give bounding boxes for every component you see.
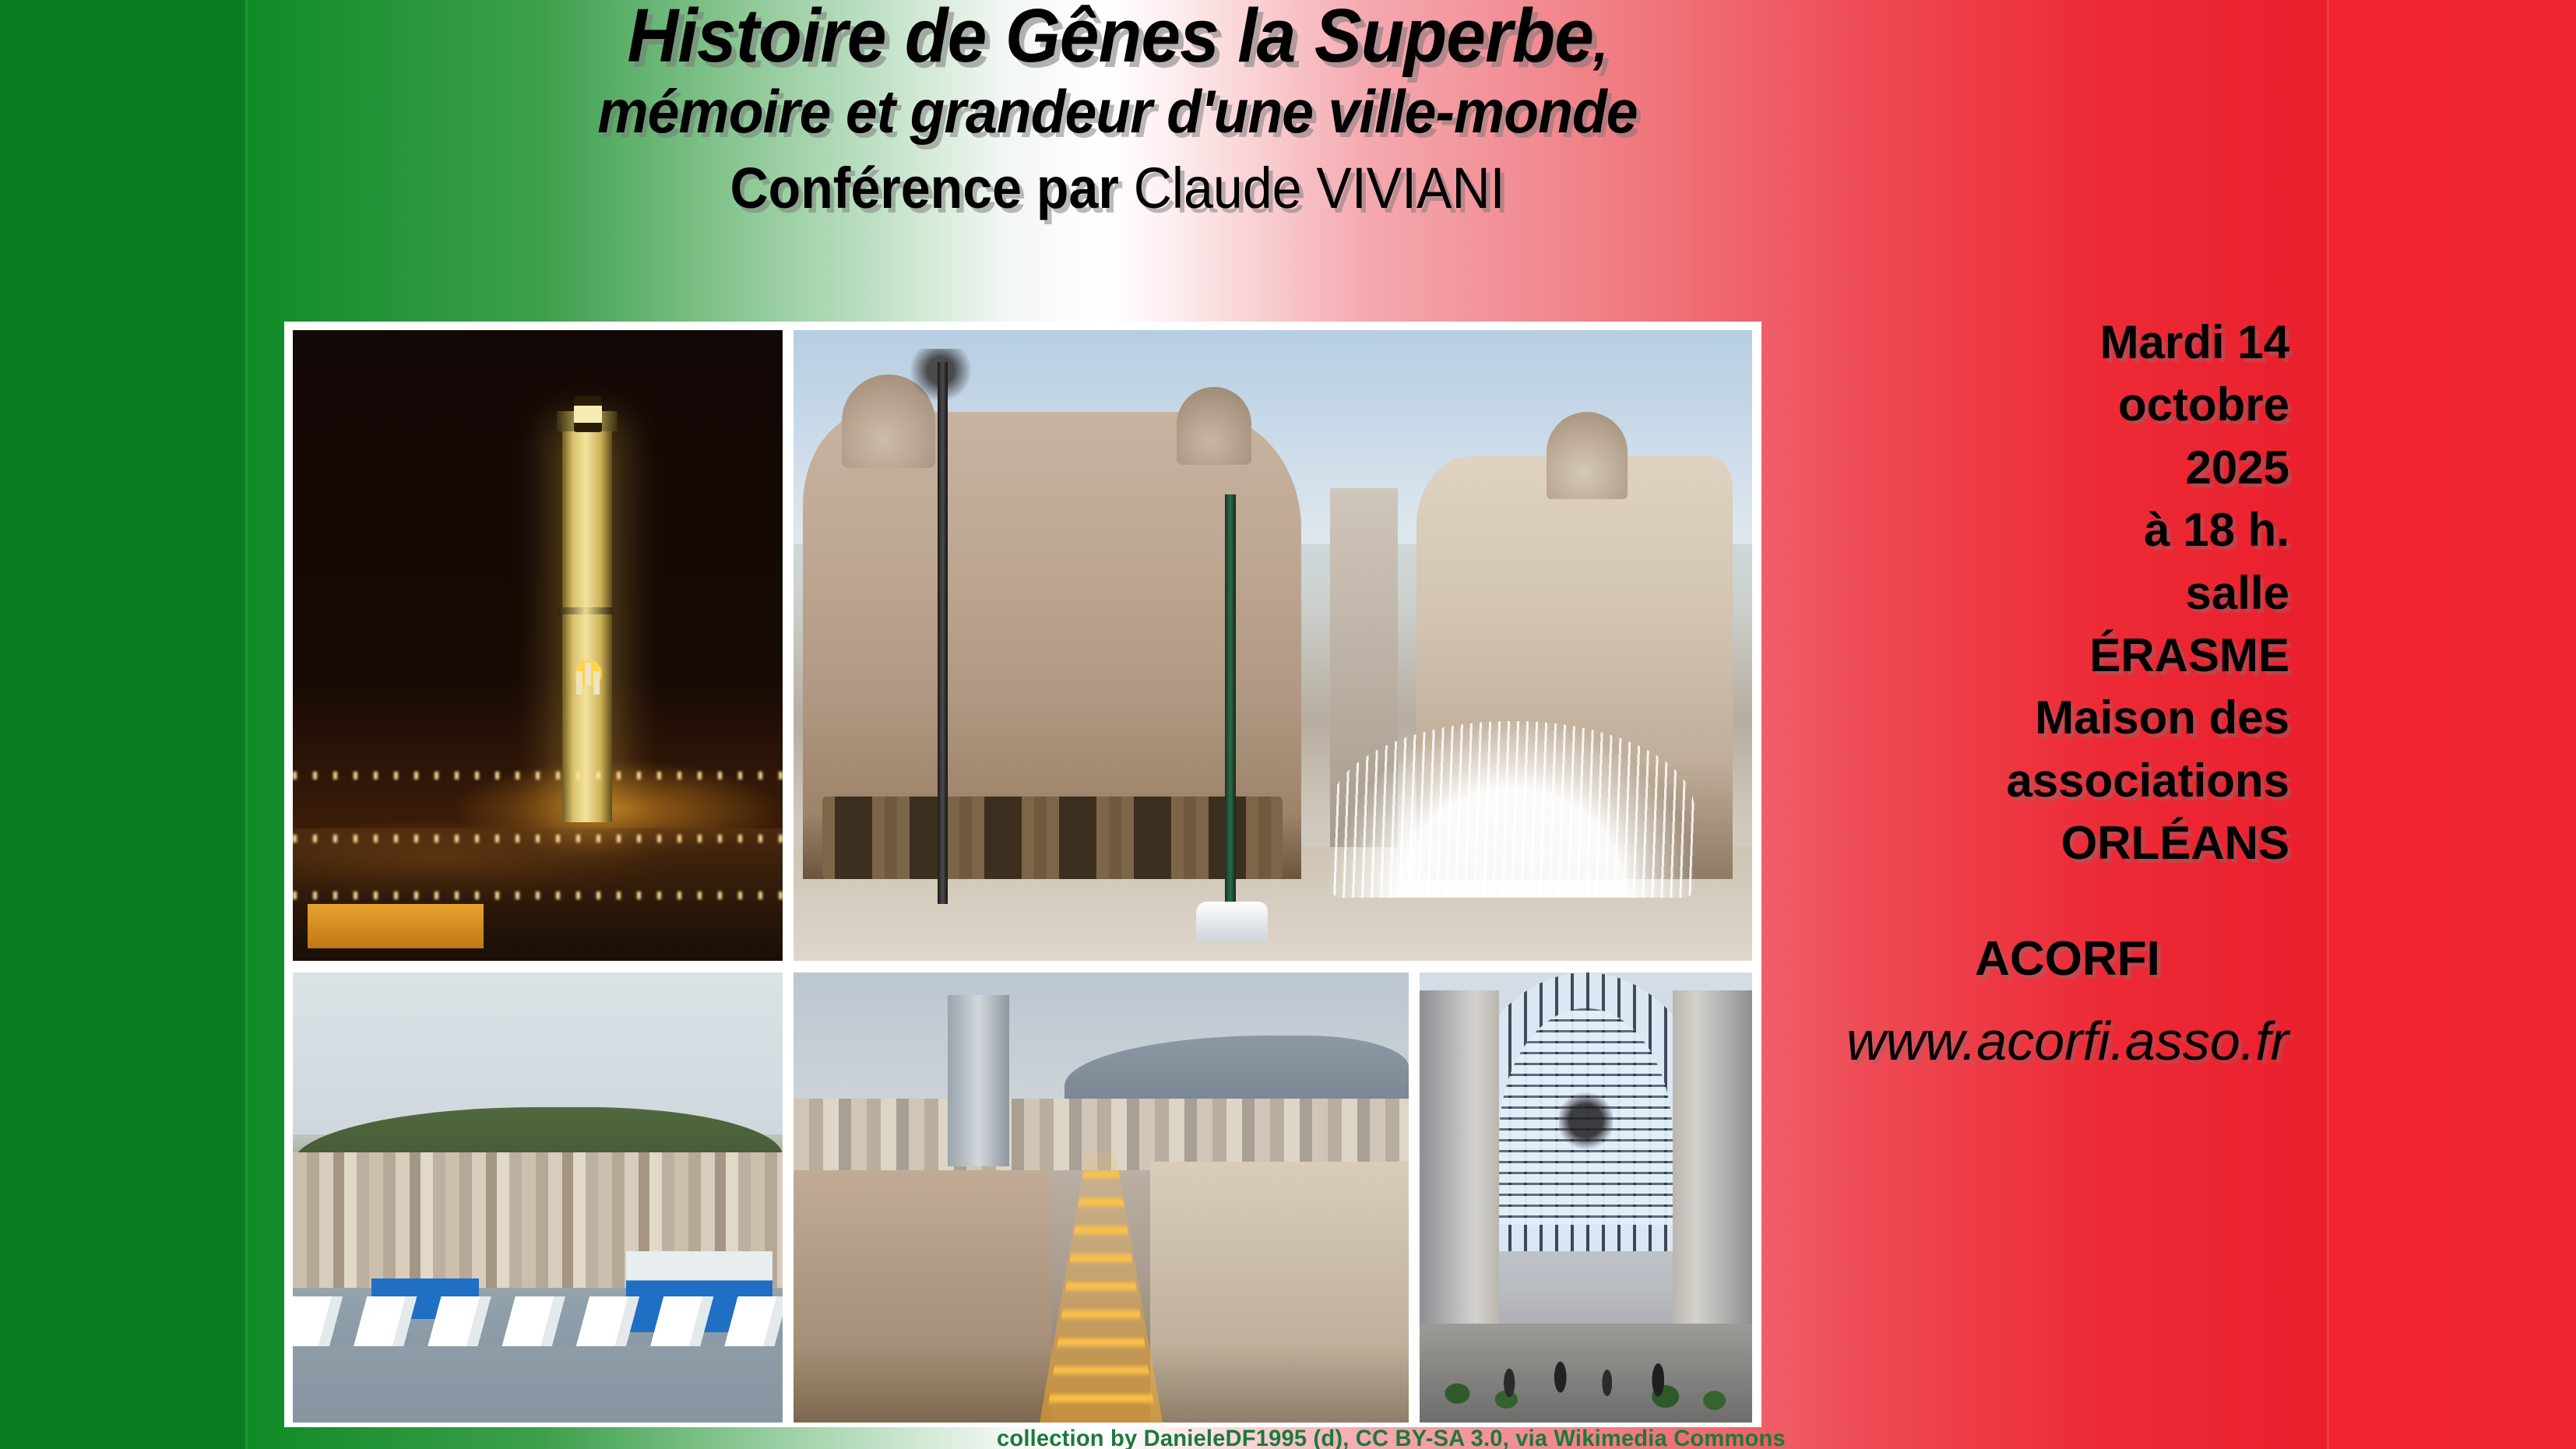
- piazza-dome-right: [1547, 412, 1628, 499]
- organisation-name: ACORFI: [1846, 931, 2289, 987]
- street-right-palazzi: [1150, 1162, 1409, 1423]
- lanterna-dock-light-row-3: [293, 892, 783, 899]
- event-line-room-name: ÉRASME: [1846, 624, 2289, 687]
- event-line-date-day: Mardi 14: [1846, 311, 2289, 374]
- harbour-moored-yachts: [293, 1296, 783, 1350]
- event-line-year: 2025: [1846, 437, 2289, 499]
- lanterna-coat-of-arms: [575, 658, 603, 692]
- conference-poster: Histoire de Gênes la Superbe, mémoire et…: [0, 0, 2576, 1449]
- left-panel-divider: [245, 0, 248, 1449]
- right-panel-divider: [2327, 0, 2329, 1449]
- event-details-block: Mardi 14 octobre 2025 à 18 h. salle ÉRAS…: [1846, 311, 2289, 1072]
- harbour-water: [293, 1346, 783, 1423]
- photo-piazza-de-ferrari: [794, 330, 1752, 961]
- event-line-time: à 18 h.: [1846, 499, 2289, 561]
- photo-lanterna-lighthouse-night: [293, 330, 783, 961]
- lanterna-dock-light-row-2: [293, 835, 783, 842]
- piazza-ornamental-lamppost: [938, 362, 948, 905]
- piazza-dome-centre: [1177, 387, 1251, 465]
- piazza-fountain: [1330, 721, 1694, 898]
- piazza-tram-pole: [1225, 494, 1236, 936]
- lanterna-cornice-band: [558, 607, 613, 614]
- galleria-chandelier: [1559, 1089, 1612, 1152]
- event-line-city: ORLÉANS: [1846, 812, 2289, 874]
- galleria-pedestrians: [1480, 1332, 1692, 1404]
- street-modern-tower: [948, 995, 1009, 1166]
- event-line-venue-2: associations: [1846, 750, 2289, 812]
- event-line-venue-1: Maison des: [1846, 687, 2289, 749]
- piazza-ground-floor-arcade: [822, 797, 1283, 878]
- piazza-white-car: [1196, 902, 1268, 942]
- street-left-palazzi: [794, 1170, 1052, 1423]
- lanterna-lamp-room: [574, 396, 602, 432]
- lanterna-dock-light-row-1: [293, 772, 783, 779]
- organisation-website[interactable]: www.acorfi.asso.fr: [1846, 1010, 2289, 1072]
- photo-avenue-at-dusk: [794, 972, 1409, 1423]
- photo-genoa-harbour: [293, 972, 783, 1423]
- event-line-month: octobre: [1846, 374, 2289, 436]
- image-credit-text: collection by DanieleDF1995 (d), CC BY-S…: [997, 1426, 1786, 1449]
- event-line-room-label: salle: [1846, 562, 2289, 624]
- photo-collage: [284, 322, 1761, 1427]
- photo-galleria-arcade: [1420, 972, 1752, 1423]
- lanterna-warehouse-roof: [308, 904, 484, 948]
- lanterna-tower-shaft: [562, 431, 612, 822]
